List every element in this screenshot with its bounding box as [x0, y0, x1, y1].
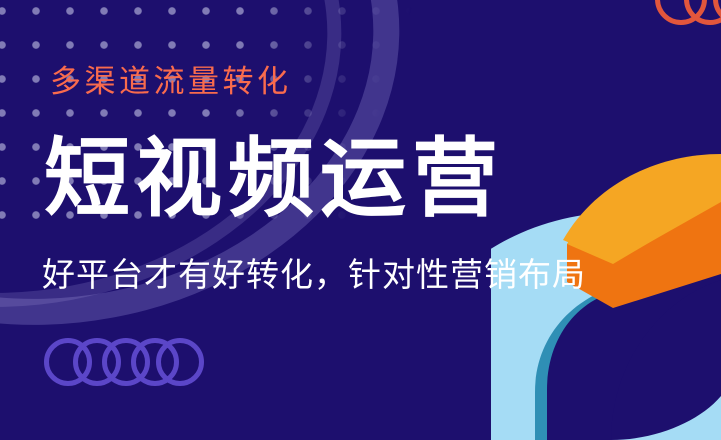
ring-cluster-left: [44, 338, 184, 390]
donut-inner-hole: [611, 280, 721, 440]
circle-outline-icon: [655, 0, 707, 25]
circle-outline-icon: [44, 338, 92, 386]
donut-orange-top-fill: [563, 154, 721, 262]
donut-orange-top: [567, 162, 721, 264]
banner-headline: 短视频运营: [44, 134, 504, 224]
donut-orange-side: [567, 200, 721, 308]
donut-blue-bottom-sweep: [531, 396, 721, 440]
circle-outline-icon: [131, 338, 179, 386]
banner-eyebrow-text: 多渠道流量转化: [50, 63, 292, 102]
circle-outline-icon: [73, 338, 121, 386]
donut-blue-top-body: [491, 212, 659, 440]
circle-outline-icon: [713, 0, 721, 25]
banner-tagline: 好平台才有好转化，针对性营销布局: [42, 256, 586, 297]
ring-cluster-top-right: [655, 0, 721, 29]
circle-outline-icon: [102, 338, 150, 386]
circle-outline-icon: [156, 338, 204, 386]
promo-banner: 多渠道流量转化 短视频运营 好平台才有好转化，针对性营销布局: [0, 0, 721, 440]
circle-outline-icon: [684, 0, 721, 25]
